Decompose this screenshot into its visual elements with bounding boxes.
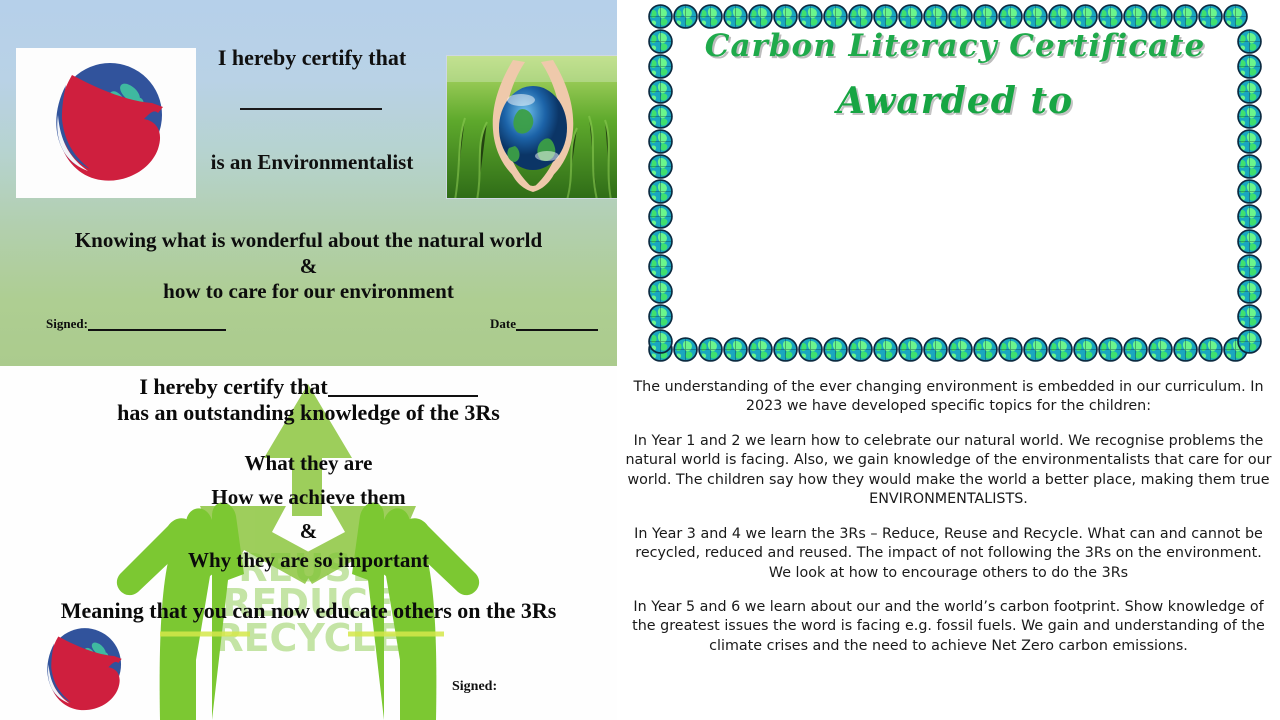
curriculum-text-panel: The understanding of the ever changing e… — [617, 366, 1280, 720]
globe-earth-icon — [873, 337, 898, 362]
globe-earth-icon — [948, 4, 973, 29]
globe-earth-icon — [648, 229, 673, 254]
globe-earth-icon — [1148, 337, 1173, 362]
three-rs-line-3: What they are — [0, 451, 617, 476]
globe-earth-icon — [673, 4, 698, 29]
globe-earth-icon — [1173, 4, 1198, 29]
globe-earth-icon — [648, 204, 673, 229]
globe-earth-icon — [773, 337, 798, 362]
curriculum-paragraph-1: The understanding of the ever changing e… — [625, 378, 1272, 417]
globe-earth-icon — [1237, 254, 1262, 279]
globe-earth-icon — [823, 4, 848, 29]
curriculum-paragraph-4: In Year 5 and 6 we learn about our and t… — [625, 598, 1272, 656]
globe-earth-icon — [1148, 4, 1173, 29]
globe-earth-icon — [1237, 279, 1262, 304]
globe-earth-icon — [898, 4, 923, 29]
globe-earth-icon — [998, 337, 1023, 362]
signature-row: Signed: Date — [0, 316, 617, 338]
globe-earth-icon — [1223, 4, 1248, 29]
globe-earth-icon — [998, 4, 1023, 29]
globe-earth-icon — [673, 337, 698, 362]
name-blank-line[interactable] — [240, 108, 382, 110]
globe-earth-icon — [1237, 329, 1262, 354]
carbon-literacy-certificate: Carbon Literacy Certificate Awarded to R… — [630, 0, 1280, 366]
three-rs-signed-label[interactable]: Signed: — [452, 679, 497, 695]
globe-earth-icon — [948, 337, 973, 362]
globe-earth-icon — [648, 337, 673, 362]
globe-earth-icon — [1237, 229, 1262, 254]
globe-earth-icon — [798, 337, 823, 362]
globe-earth-icon — [1237, 129, 1262, 154]
hands-earth-illustration — [447, 56, 617, 199]
globe-earth-icon — [873, 4, 898, 29]
globe-earth-icon — [923, 4, 948, 29]
globe-earth-icon — [923, 337, 948, 362]
globe-earth-icon — [823, 337, 848, 362]
border-col-left — [648, 29, 673, 354]
globe-earth-icon — [648, 179, 673, 204]
globe-earth-icon — [773, 4, 798, 29]
globe-earth-icon — [898, 337, 923, 362]
is-environmentalist-line: is an Environmentalist — [196, 150, 428, 175]
globe-earth-icon — [698, 4, 723, 29]
slide-canvas: I hereby certify that is an Environmenta… — [0, 0, 1280, 720]
globe-earth-icon — [648, 304, 673, 329]
globe-earth-icon — [1198, 337, 1223, 362]
globe-earth-icon — [1237, 204, 1262, 229]
globe-earth-icon — [1073, 337, 1098, 362]
globe-earth-icon — [748, 4, 773, 29]
border-row-top — [648, 4, 1248, 29]
three-rs-line-7: Meaning that you can now educate others … — [0, 598, 617, 624]
globe-earth-icon — [1223, 337, 1248, 362]
globe-earth-icon — [723, 337, 748, 362]
globe-earth-icon — [1237, 154, 1262, 179]
curriculum-paragraph-2: In Year 1 and 2 we learn how to celebrat… — [625, 432, 1272, 510]
body-line-2: & — [10, 254, 607, 280]
three-rs-line-4: How we achieve them — [0, 485, 617, 510]
dove-logo-icon — [28, 624, 136, 716]
three-rs-line-2: has an outstanding knowledge of the 3Rs — [0, 400, 617, 426]
globe-earth-icon — [973, 4, 998, 29]
globe-earth-icon — [1048, 4, 1073, 29]
hands-holding-earth-photo — [446, 55, 617, 199]
globe-earth-icon — [648, 129, 673, 154]
globe-earth-icon — [1198, 4, 1223, 29]
globe-earth-icon — [1098, 4, 1123, 29]
body-line-3: how to care for our environment — [10, 279, 607, 305]
globe-earth-icon — [1023, 337, 1048, 362]
globe-earth-icon — [1237, 304, 1262, 329]
dove-logo-icon — [32, 57, 180, 189]
date-field[interactable]: Date — [490, 316, 598, 332]
globe-earth-icon — [1123, 337, 1148, 362]
curriculum-paragraph-3: In Year 3 and 4 we learn the 3Rs – Reduc… — [625, 525, 1272, 583]
globe-earth-icon — [1073, 4, 1098, 29]
globe-earth-icon — [973, 337, 998, 362]
awarded-to-heading: Awarded to — [655, 80, 1255, 122]
globe-earth-icon — [648, 329, 673, 354]
certificate-body-text: Knowing what is wonderful about the natu… — [10, 228, 607, 305]
globe-earth-icon — [1048, 337, 1073, 362]
globe-earth-icon — [648, 154, 673, 179]
certify-line: I hereby certify that — [196, 45, 428, 71]
globe-earth-icon — [648, 4, 673, 29]
globe-earth-icon — [698, 337, 723, 362]
border-col-right — [1237, 29, 1262, 354]
globe-earth-icon — [798, 4, 823, 29]
globe-earth-icon — [1237, 179, 1262, 204]
body-line-1: Knowing what is wonderful about the natu… — [10, 228, 607, 254]
globe-earth-icon — [1123, 4, 1148, 29]
globe-earth-icon — [848, 337, 873, 362]
three-rs-line-1: I hereby certify that — [0, 374, 617, 400]
globe-earth-icon — [723, 4, 748, 29]
three-rs-certify-prefix: I hereby certify that — [139, 374, 327, 399]
globe-earth-icon — [648, 254, 673, 279]
three-rs-line-5: & — [0, 519, 617, 544]
environmentalist-certificate: I hereby certify that is an Environmenta… — [0, 0, 617, 366]
globe-earth-icon — [848, 4, 873, 29]
three-rs-certificate: REUSE REDUCE RECYCLE I hereby certify th… — [0, 366, 617, 720]
globe-earth-icon — [648, 279, 673, 304]
three-rs-line-6: Why they are so important — [0, 548, 617, 573]
globe-earth-icon — [1023, 4, 1048, 29]
globe-earth-icon — [748, 337, 773, 362]
border-row-bottom — [648, 337, 1248, 362]
globe-earth-icon — [1173, 337, 1198, 362]
globe-earth-icon — [1098, 337, 1123, 362]
signed-field[interactable]: Signed: — [46, 316, 226, 332]
school-logo-panel — [16, 48, 196, 198]
carbon-certificate-title: Carbon Literacy Certificate — [655, 28, 1255, 64]
three-rs-name-blank[interactable] — [328, 380, 478, 397]
